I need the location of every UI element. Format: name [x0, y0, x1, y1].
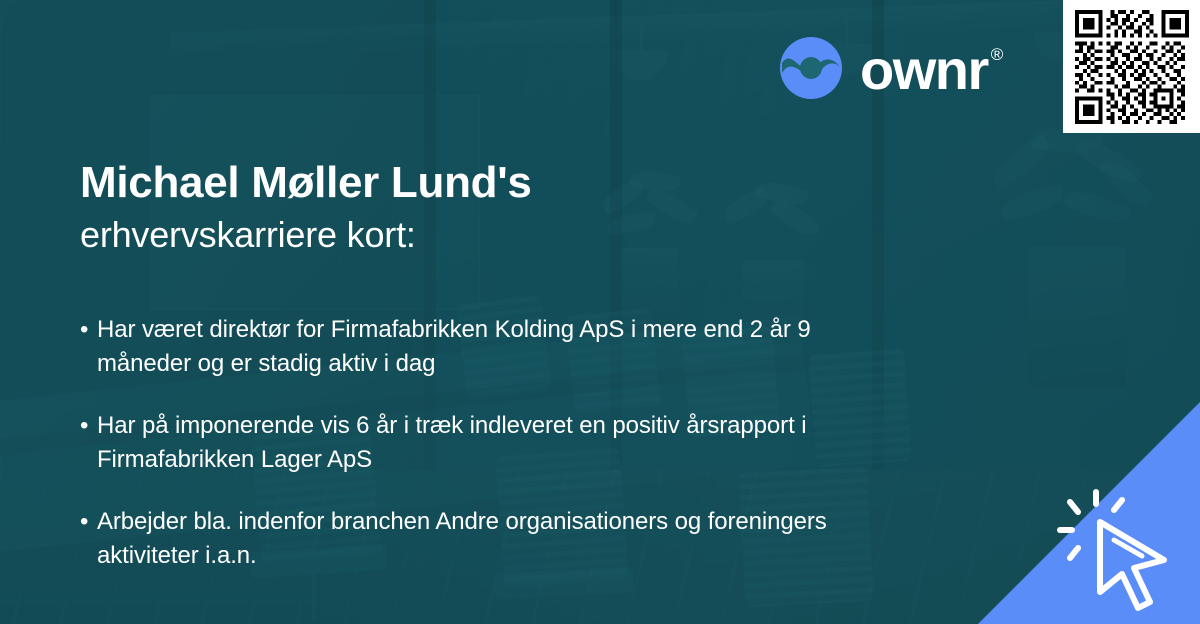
registered-trademark-icon: ®: [991, 46, 1002, 63]
bullet-dot-icon: •: [80, 409, 97, 443]
list-item: • Har været direktør for Firmafabrikken …: [80, 313, 880, 381]
list-item-text: Arbejder bla. indenfor branchen Andre or…: [97, 505, 837, 573]
title-person-name: Michael Møller Lund's: [80, 157, 840, 208]
bullet-dot-icon: •: [80, 505, 97, 539]
ownr-logo[interactable]: ownr ®: [779, 36, 999, 100]
list-item: • Har på imponerende vis 6 år i træk ind…: [80, 409, 880, 477]
ownr-circular-swirl-mark: [779, 36, 843, 100]
list-item-text: Har været direktør for Firmafabrikken Ko…: [97, 313, 837, 381]
ownr-career-card: ownr ®: [0, 0, 1200, 624]
qr-code: [1075, 10, 1189, 124]
list-item: • Arbejder bla. indenfor branchen Andre …: [80, 505, 880, 573]
list-item-text: Har på imponerende vis 6 år i træk indle…: [97, 409, 837, 477]
career-bullet-list: • Har været direktør for Firmafabrikken …: [80, 313, 880, 573]
logo-wordmark: ownr ®: [860, 40, 999, 96]
page-title: Michael Møller Lund's erhvervskarriere k…: [80, 157, 840, 259]
title-subtitle: erhvervskarriere kort:: [80, 212, 840, 259]
click-cursor-icon: [1056, 488, 1192, 618]
qr-code-panel[interactable]: [1063, 0, 1200, 133]
bullet-dot-icon: •: [80, 313, 97, 347]
logo-word: ownr: [860, 42, 988, 98]
